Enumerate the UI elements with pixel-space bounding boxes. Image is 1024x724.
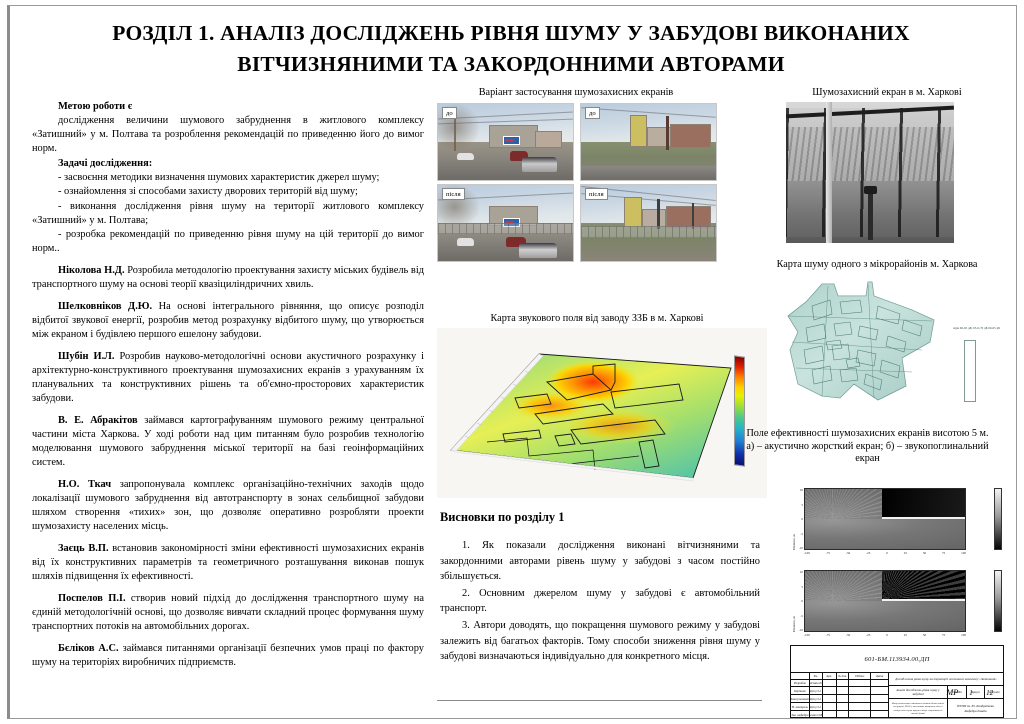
figure-field-efficiency-plots: Distance, m 10 5 0 -5 -10 -100 -75 -50 -… — [782, 482, 1004, 650]
stage-value: МР — [943, 686, 962, 699]
noisemap-legend-bar — [964, 340, 976, 402]
author-paragraph: Шубін И.Л. Розробив науково-методологічн… — [32, 350, 424, 406]
cell-docno — [837, 711, 850, 718]
screen-wall — [882, 517, 965, 519]
ytick: -10 — [799, 546, 803, 550]
aim-heading: Метою роботи є — [58, 101, 132, 112]
field-lower-half — [805, 601, 965, 631]
cell-sign — [849, 695, 871, 702]
car — [522, 157, 557, 172]
figure-caption-photos: Варіант застосування шумозахисних екрані… — [437, 86, 715, 99]
acoustic-shadow-zone — [882, 571, 965, 599]
aim-text: дослідження величини шумового забрудненн… — [32, 114, 424, 156]
building — [642, 209, 666, 227]
stage-values: МР 1 12 — [943, 686, 999, 699]
xtick: 0 — [886, 633, 888, 641]
ytick: 0 — [801, 599, 803, 603]
col-header-zm: Зм. — [810, 673, 823, 679]
cell-docno — [837, 680, 850, 687]
field-caption-line3: екран — [730, 453, 1005, 466]
road — [581, 166, 716, 180]
author-name: Шубін И.Л. — [58, 351, 115, 362]
role-label: Н. контроль — [791, 703, 810, 710]
figure-caption-barrier: Шумозахисний екран в м. Харкові — [772, 86, 1002, 99]
cell-date — [871, 695, 888, 702]
conclusion-item: 2. Основним джерелом шуму у забудові є а… — [440, 586, 760, 617]
figure-caption-field-efficiency: Поле ефективності шумозахисних екранів в… — [730, 428, 1005, 466]
cell-date — [871, 687, 888, 694]
author-name: Заєць В.П. — [58, 543, 109, 554]
cell-docno — [837, 695, 850, 702]
camera-tripod — [868, 192, 873, 240]
noisemap-legend-label: шум 60-65 дБ; 65-0-70 дБ 60-65 дБ — [953, 326, 1000, 330]
conclusion-item: 1. Як показали дослідження виконані вітч… — [440, 538, 760, 585]
project-title-row: Дослідження рівня шуму на території житл… — [889, 673, 1003, 686]
xtick: 75 — [942, 551, 945, 559]
photo-label-after: після — [585, 188, 608, 200]
cell-sign — [849, 711, 871, 718]
title-block-row: Н. контроль Кущ О.І. — [791, 703, 888, 711]
photo-street-after: після — [437, 184, 574, 262]
ytick: 10 — [800, 570, 803, 574]
ytick: -10 — [799, 628, 803, 632]
traffic-light-pole — [666, 116, 669, 149]
project-title-line1: Дослідження рівня шуму на території житл… — [895, 677, 997, 681]
acoustic-shadow-zone — [882, 489, 965, 517]
plot-a-yticks: 10 5 0 -5 -10 — [792, 488, 803, 550]
photo-intersection-before: до — [580, 103, 717, 181]
col-header-date: Дата — [871, 673, 888, 679]
xtick: -75 — [826, 633, 830, 641]
plot-a-colorbar — [994, 488, 1002, 550]
cell-ark — [823, 687, 837, 694]
stamp-note: Якщо неможливо одночасно подати більш од… — [889, 699, 947, 718]
author-paragraph: Поспелов П.І. створив новий підхід до до… — [32, 592, 424, 634]
plot-a-xticks: -100 -75 -50 -25 0 25 50 75 100 — [804, 551, 966, 559]
role-label: Керівник — [791, 687, 810, 694]
conclusions-body: 1. Як показали дослідження виконані вітч… — [440, 538, 760, 665]
noise-barrier — [438, 223, 573, 234]
photo-label-before: до — [585, 107, 600, 119]
xtick: 100 — [961, 633, 966, 641]
author-name: Поспелов П.І. — [58, 593, 126, 604]
col-header-role — [791, 673, 810, 679]
plot-a-rigid-screen — [804, 488, 966, 550]
xtick: -50 — [846, 551, 850, 559]
sheet-title: Аналіз досліджень рівня шуму у забудові — [889, 686, 947, 698]
noise-map-polygon — [782, 280, 937, 415]
title-block-row: Розробив Анісімов Р.А. — [791, 680, 888, 688]
ytick: -5 — [800, 614, 803, 618]
page-title-line1: РОЗДІЛ 1. АНАЛІЗ ДОСЛІДЖЕНЬ РІВНЯ ШУМУ У… — [112, 21, 909, 45]
xtick: 50 — [923, 633, 926, 641]
author-name: Шелковніков Д.Ю. — [58, 301, 152, 312]
photo-noise-barrier-kharkiv — [786, 102, 954, 243]
person-name: Кущ О.І. — [810, 687, 823, 694]
task-item: - засвоєння методики визначення шумових … — [32, 171, 424, 185]
person-name: Анісімов Р.А. — [810, 680, 823, 687]
author-name: Ніколова Н.Д. — [58, 265, 125, 276]
author-paragraph: Шелковніков Д.Ю. На основі інтегрального… — [32, 300, 424, 342]
figure-caption-noisemap: Карта шуму одного з мікрорайонів м. Харк… — [748, 258, 1006, 271]
col-header-sign: Підпис — [849, 673, 871, 679]
conclusions-divider — [437, 700, 762, 701]
traffic-light-pole — [657, 199, 660, 229]
xtick: 100 — [961, 551, 966, 559]
ytick: 5 — [801, 503, 803, 507]
conclusions-title: Висновки по розділу 1 — [440, 510, 760, 525]
author-paragraph: Н.О. Ткач запропонувала комплекс організ… — [32, 478, 424, 534]
xtick: -100 — [804, 551, 810, 559]
task-item: - ознайомлення зі способами захисту двор… — [32, 185, 424, 199]
cell-sign — [849, 680, 871, 687]
noise-barrier — [581, 226, 716, 238]
role-label: Консультант — [791, 695, 810, 702]
task-item: - розробка рекомендацій по приведенню рі… — [32, 228, 424, 256]
col-header-ark: Арк. — [823, 673, 837, 679]
sheet-value: 1 — [962, 686, 981, 699]
xtick: 0 — [886, 551, 888, 559]
cell-sign — [849, 687, 871, 694]
xtick: -25 — [866, 633, 870, 641]
plot-b-yticks: 10 5 0 -5 -10 — [792, 570, 803, 632]
poster-sheet: РОЗДІЛ 1. АНАЛІЗ ДОСЛІДЖЕНЬ РІВНЯ ШУМУ У… — [0, 0, 1024, 724]
author-paragraph: Ніколова Н.Д. Розробила методологію прое… — [32, 264, 424, 292]
role-label: Зав. кафедри — [791, 711, 810, 718]
cell-date — [871, 703, 888, 710]
conclusions-section: Висновки по розділу 1 1. Як показали дос… — [440, 510, 760, 666]
title-block: 601-БМ.113934.00.ДП Зм. Арк. № док. Підп… — [790, 645, 1004, 718]
building — [535, 131, 562, 148]
car — [457, 238, 475, 246]
cell-sign — [849, 703, 871, 710]
cell-docno — [837, 703, 850, 710]
figure-noise-map-microdistrict: шум 60-65 дБ; 65-0-70 дБ 60-65 дБ — [782, 278, 1004, 423]
author-name: Н.О. Ткач — [58, 479, 111, 490]
author-name: Бєліков А.С. — [58, 643, 119, 654]
building-brick — [670, 124, 711, 148]
photo-label-after: після — [442, 188, 465, 200]
author-paragraph: В. Е. Абракітов займався картографування… — [32, 414, 424, 470]
title-block-row: Керівник Кущ О.І. — [791, 687, 888, 695]
cell-ark — [823, 703, 837, 710]
xtick: -75 — [826, 551, 830, 559]
role-label: Розробив — [791, 680, 810, 687]
col-header-docno: № док. — [837, 673, 850, 679]
org-line2: Кафедра дизайн — [964, 709, 986, 714]
project-title: Дослідження рівня шуму на території житл… — [889, 673, 1003, 685]
left-column: Метою роботи є дослідження величини шумо… — [32, 100, 424, 671]
ytick: -5 — [800, 532, 803, 536]
figure-sound-field-zzb — [437, 328, 767, 498]
xtick: 25 — [904, 633, 907, 641]
sound-field-3d-surface — [443, 338, 743, 486]
plot-b-colorbar — [994, 570, 1002, 632]
xtick: 50 — [923, 551, 926, 559]
task-item: - виконання дослідження рівня шуму на те… — [32, 200, 424, 228]
xtick: 25 — [904, 551, 907, 559]
title-block-left: Зм. Арк. № док. Підпис Дата Розробив Ані… — [791, 673, 889, 718]
organization: НУПП ім. Ю. Кондратюка Кафедра дизайн — [947, 699, 1003, 718]
building-tower — [630, 115, 648, 147]
page-title: РОЗДІЛ 1. АНАЛІЗ ДОСЛІДЖЕНЬ РІВНЯ ШУМУ У… — [30, 18, 992, 80]
conclusion-item: 3. Автори доводять, що покращення шумово… — [440, 618, 760, 665]
tasks-heading: Задачі дослідження: — [58, 158, 152, 169]
sheet-title-line1: Аналіз досліджень рівня шуму у забудові — [891, 688, 945, 697]
plot-b-xticks: -100 -75 -50 -25 0 25 50 75 100 — [804, 633, 966, 641]
note-row: Якщо неможливо одночасно подати більш од… — [889, 699, 1003, 718]
person-name: Кущ О.І. — [810, 703, 823, 710]
photo-grid-before-after: до до після — [437, 103, 717, 263]
field-caption-line2: а) – акустично жорсткий екран; б) – звук… — [730, 441, 1005, 454]
photo-intersection-after: після — [580, 184, 717, 262]
author-name: В. Е. Абракітов — [58, 415, 138, 426]
cell-ark — [823, 711, 837, 718]
xtick: 75 — [942, 633, 945, 641]
car — [519, 243, 557, 258]
photo-street-before: до — [437, 103, 574, 181]
figure-caption-zzb: Карта звукового поля від заводу ЗЗБ в м.… — [437, 312, 757, 325]
ytick: 10 — [800, 488, 803, 492]
field-lower-half — [805, 519, 965, 549]
field-caption-line1: Поле ефективності шумозахисних екранів в… — [730, 428, 1005, 441]
author-paragraph: Бєліков А.С. займався питаннями організа… — [32, 642, 424, 670]
ytick: 5 — [801, 585, 803, 589]
person-name: Семко О.В. — [810, 711, 823, 718]
cell-date — [871, 711, 888, 718]
ytick: 0 — [801, 517, 803, 521]
cell-ark — [823, 695, 837, 702]
building-tower — [624, 197, 642, 227]
page-title-line2: ВІТЧИЗНЯНИМИ ТА ЗАКОРДОННИМИ АВТОРАМИ — [30, 49, 992, 80]
author-paragraph: Заєць В.П. встановив закономірності змін… — [32, 542, 424, 584]
billboard — [503, 136, 521, 145]
title-block-row: Зав. кафедри Семко О.В. — [791, 711, 888, 718]
photo-label-before: до — [442, 107, 457, 119]
doc-number: 601-БМ.113934.00.ДП — [791, 646, 1003, 673]
plot-b-absorbing-screen — [804, 570, 966, 632]
xtick: -25 — [866, 551, 870, 559]
person-name: Кущ О.І. — [810, 695, 823, 702]
title-block-row: Консультант Кущ О.І. — [791, 695, 888, 703]
cell-ark — [823, 680, 837, 687]
sheets-value: 12 — [980, 686, 999, 699]
cell-docno — [837, 687, 850, 694]
cell-date — [871, 680, 888, 687]
xtick: -50 — [846, 633, 850, 641]
xtick: -100 — [804, 633, 810, 641]
lamp-post — [826, 102, 832, 243]
car — [457, 153, 475, 161]
screen-wall — [882, 599, 965, 601]
